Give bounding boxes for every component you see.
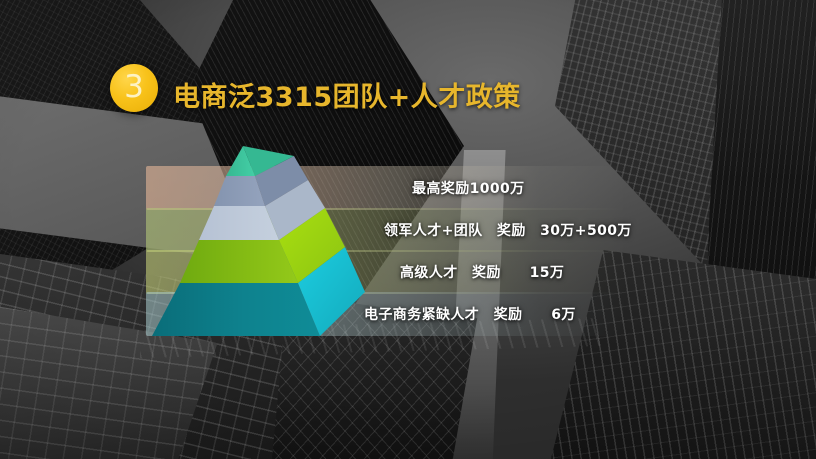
info-band-3-label: 高级人才 奖励 15万 bbox=[400, 250, 564, 294]
section-number-badge: 3 bbox=[110, 64, 158, 112]
page-title: 电商泛3315团队+人才政策 bbox=[173, 74, 521, 114]
section-number-text: 3 bbox=[124, 72, 144, 103]
info-band-4-label: 电子商务紧缺人才 奖励 6万 bbox=[364, 292, 576, 336]
info-band-2-label: 领军人才+团队 奖励 30万+500万 bbox=[384, 208, 632, 252]
info-band-1-label: 最高奖励1000万 bbox=[412, 166, 525, 210]
presentation-slide: 最高奖励1000万 领军人才+团队 奖励 30万+500万 高级人才 奖励 15… bbox=[0, 0, 816, 459]
